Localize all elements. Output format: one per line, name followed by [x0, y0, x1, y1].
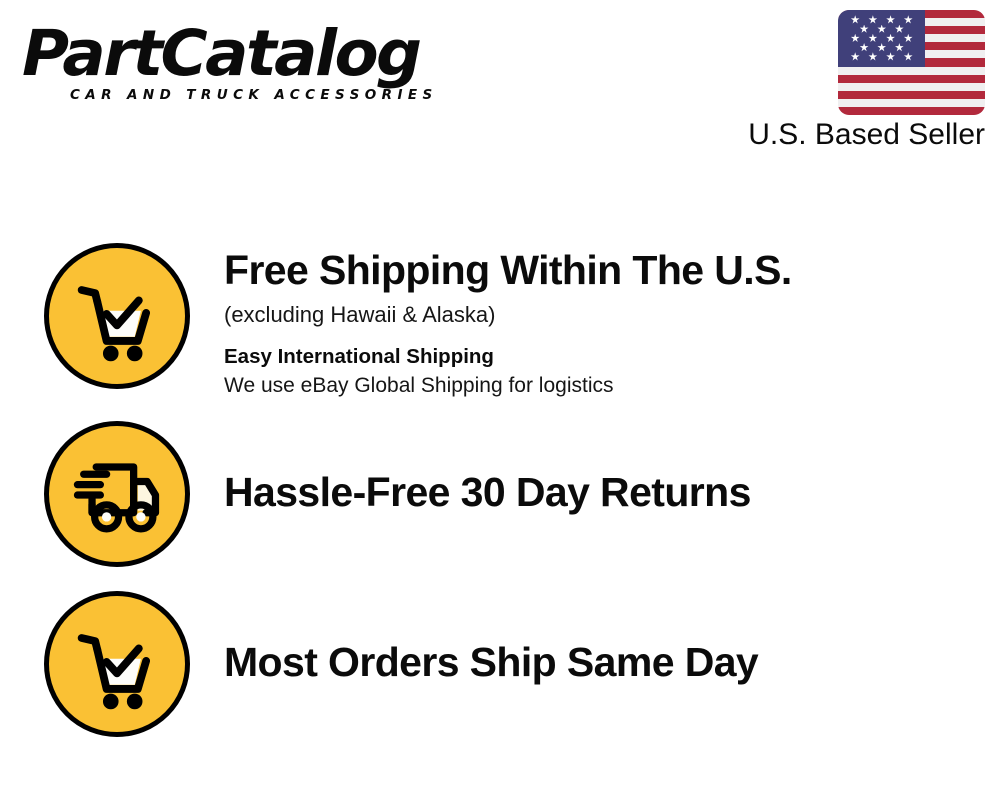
feature-text: Most Orders Ship Same Day	[190, 591, 974, 684]
shopping-cart-check-icon	[44, 243, 190, 389]
feature-subtitle: (excluding Hawaii & Alaska)	[224, 302, 974, 328]
feature-row: Free Shipping Within The U.S. (excluding…	[44, 243, 974, 398]
feature-row: Hassle-Free 30 Day Returns	[44, 421, 974, 567]
promo-banner: PartCatalog CAR AND TRUCK ACCESSORIES U.…	[0, 0, 1000, 800]
feature-title: Most Orders Ship Same Day	[224, 641, 974, 684]
shopping-cart-check-icon	[44, 591, 190, 737]
brand-wordmark: PartCatalog	[22, 22, 501, 85]
feature-title: Hassle-Free 30 Day Returns	[224, 471, 974, 514]
feature-row: Most Orders Ship Same Day	[44, 591, 974, 737]
feature-text: Free Shipping Within The U.S. (excluding…	[190, 243, 974, 398]
partcatalog-logo: PartCatalog CAR AND TRUCK ACCESSORIES	[22, 22, 492, 114]
delivery-truck-icon	[44, 421, 190, 567]
flag-canton	[838, 10, 925, 67]
feature-title: Free Shipping Within The U.S.	[224, 249, 974, 292]
feature-subheading: Easy International Shipping	[224, 345, 974, 369]
us-flag-icon	[838, 10, 985, 115]
us-based-seller-label: U.S. Based Seller	[600, 118, 985, 152]
feature-detail: We use eBay Global Shipping for logistic…	[224, 374, 974, 398]
feature-text: Hassle-Free 30 Day Returns	[190, 421, 974, 514]
